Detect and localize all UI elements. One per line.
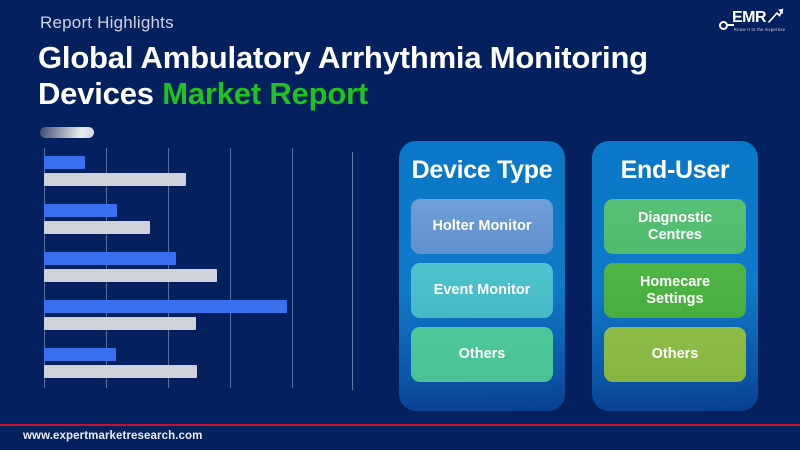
chart-bar-0-1	[44, 173, 186, 186]
chart-bar-4-1	[44, 365, 197, 378]
chart-gridline-4	[292, 148, 293, 388]
panel-title: Device Type	[412, 155, 553, 185]
chip-device-0[interactable]: Holter Monitor	[411, 199, 553, 254]
chip-enduser-1[interactable]: Homecare Settings	[604, 263, 746, 318]
panel-device-type: Device Type Holter Monitor Event Monitor…	[399, 141, 565, 411]
chart-bar-0-0	[44, 156, 85, 169]
footer-divider	[0, 424, 800, 426]
logo-tagline: Know It to the Expertise	[734, 27, 785, 32]
panel-title: End-User	[621, 155, 730, 185]
page-title-accent: Market Report	[162, 76, 368, 111]
chart-gridline-3	[230, 148, 231, 388]
page-title: Global Ambulatory Arrhythmia Monitoring …	[38, 40, 718, 112]
chart-bar-4-0	[44, 348, 116, 361]
emr-logo[interactable]: EMR Know It to the Expertise	[710, 8, 786, 40]
chip-device-1[interactable]: Event Monitor	[411, 263, 553, 318]
section-divider	[352, 152, 353, 390]
chip-enduser-2[interactable]: Others	[604, 327, 746, 382]
chart-bar-2-1	[44, 269, 217, 282]
chart-bar-2-0	[44, 252, 176, 265]
chart-bar-1-0	[44, 204, 117, 217]
chart-bar-3-1	[44, 317, 196, 330]
panel-end-user: End-User Diagnostic Centres Homecare Set…	[592, 141, 758, 411]
logo-wordmark: EMR	[732, 9, 766, 27]
chip-enduser-0[interactable]: Diagnostic Centres	[604, 199, 746, 254]
footer-website-url[interactable]: www.expertmarketresearch.com	[23, 430, 202, 442]
decorative-pill	[40, 127, 94, 138]
chart-bar-3-0	[44, 300, 287, 313]
chart-bar-1-1	[44, 221, 150, 234]
eyebrow-label: Report Highlights	[40, 13, 174, 33]
chip-device-2[interactable]: Others	[411, 327, 553, 382]
horizontal-bar-chart	[44, 148, 302, 388]
growth-arrow-icon	[768, 8, 784, 24]
